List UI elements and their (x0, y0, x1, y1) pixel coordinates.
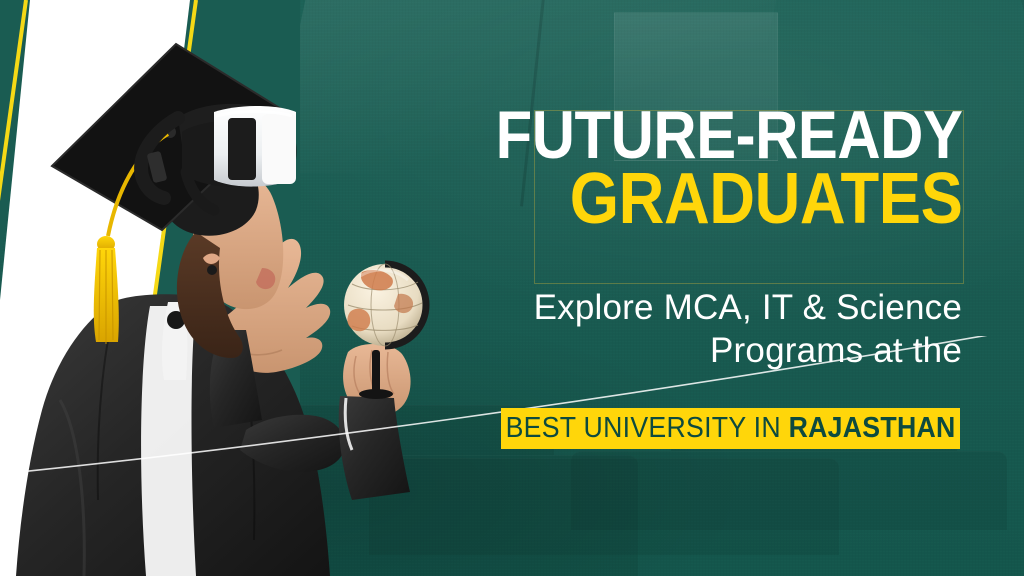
subheadline-line-1: Explore MCA, IT & Science (534, 286, 962, 329)
ribbon-emphasis: RAJASTHAN (788, 412, 955, 444)
promotional-banner: FUTURE-READY GRADUATES Explore MCA, IT &… (0, 0, 1024, 576)
subheadline: Explore MCA, IT & Science Programs at th… (534, 286, 962, 373)
ribbon-badge: BEST UNIVERSITY IN RAJASTHAN (501, 408, 960, 449)
headline: FUTURE-READY GRADUATES (432, 106, 962, 231)
banner-copy: FUTURE-READY GRADUATES Explore MCA, IT &… (0, 0, 1024, 576)
subheadline-line-2: Programs at the (534, 329, 962, 372)
headline-line-2: GRADUATES (495, 168, 962, 231)
headline-line-1: FUTURE-READY (495, 106, 962, 166)
ribbon-text: BEST UNIVERSITY IN RAJASTHAN (505, 412, 955, 445)
ribbon-prefix: BEST UNIVERSITY IN (505, 412, 788, 444)
